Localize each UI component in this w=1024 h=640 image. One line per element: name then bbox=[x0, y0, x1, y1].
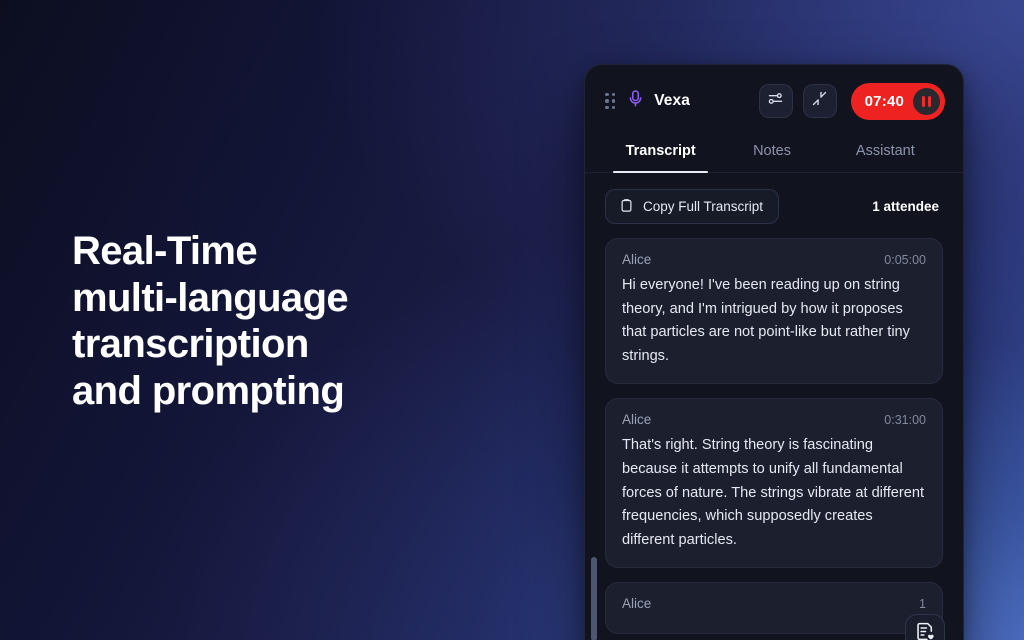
message-header: Alice 1 bbox=[622, 596, 926, 611]
message-speaker: Alice bbox=[622, 252, 651, 267]
panel-brand: Vexa bbox=[605, 89, 690, 113]
message-speaker: Alice bbox=[622, 412, 651, 427]
tab-assistant[interactable]: Assistant bbox=[828, 137, 943, 172]
settings-button[interactable] bbox=[759, 84, 793, 118]
vexa-app-panel: Vexa bbox=[584, 64, 964, 640]
copy-full-transcript-label: Copy Full Transcript bbox=[643, 199, 763, 214]
pause-icon[interactable] bbox=[913, 88, 940, 115]
tab-notes[interactable]: Notes bbox=[716, 137, 827, 172]
transcript-scrollbar[interactable] bbox=[591, 557, 597, 640]
page-root: Real-Time multi-language transcription a… bbox=[0, 0, 1024, 640]
page-title: Real-Time multi-language transcription a… bbox=[72, 228, 502, 414]
transcript-list[interactable]: Alice 0:05:00 Hi everyone! I've been rea… bbox=[585, 238, 963, 638]
save-note-button[interactable] bbox=[905, 614, 945, 640]
message-timestamp: 1 bbox=[919, 597, 926, 611]
tab-transcript[interactable]: Transcript bbox=[605, 137, 716, 172]
message-header: Alice 0:05:00 bbox=[622, 252, 926, 267]
panel-tabs: Transcript Notes Assistant bbox=[585, 137, 963, 173]
recording-timer-button[interactable]: 07:40 bbox=[851, 83, 945, 120]
copy-full-transcript-button[interactable]: Copy Full Transcript bbox=[605, 189, 779, 224]
clipboard-icon bbox=[619, 198, 634, 216]
minimize-button[interactable] bbox=[803, 84, 837, 118]
panel-actions: Copy Full Transcript 1 attendee bbox=[585, 173, 963, 238]
brand-name: Vexa bbox=[654, 92, 690, 110]
transcript-message[interactable]: Alice 0:31:00 That's right. String theor… bbox=[605, 398, 943, 568]
message-text: That's right. String theory is fascinati… bbox=[622, 434, 926, 552]
message-header: Alice 0:31:00 bbox=[622, 412, 926, 427]
hero-section: Real-Time multi-language transcription a… bbox=[72, 228, 502, 414]
message-timestamp: 0:05:00 bbox=[884, 253, 926, 267]
attendee-count: 1 attendee bbox=[872, 199, 943, 214]
transcript-message[interactable]: Alice 1 bbox=[605, 582, 943, 634]
recording-elapsed: 07:40 bbox=[865, 93, 904, 110]
drag-dots-icon[interactable] bbox=[605, 93, 615, 110]
message-timestamp: 0:31:00 bbox=[884, 413, 926, 427]
message-text: Hi everyone! I've been reading up on str… bbox=[622, 274, 926, 368]
collapse-arrows-icon bbox=[811, 90, 828, 112]
sliders-icon bbox=[767, 90, 784, 112]
message-speaker: Alice bbox=[622, 596, 651, 611]
microphone-icon bbox=[626, 89, 645, 113]
document-heart-icon bbox=[915, 621, 936, 640]
transcript-message[interactable]: Alice 0:05:00 Hi everyone! I've been rea… bbox=[605, 238, 943, 384]
panel-header: Vexa bbox=[585, 65, 963, 137]
